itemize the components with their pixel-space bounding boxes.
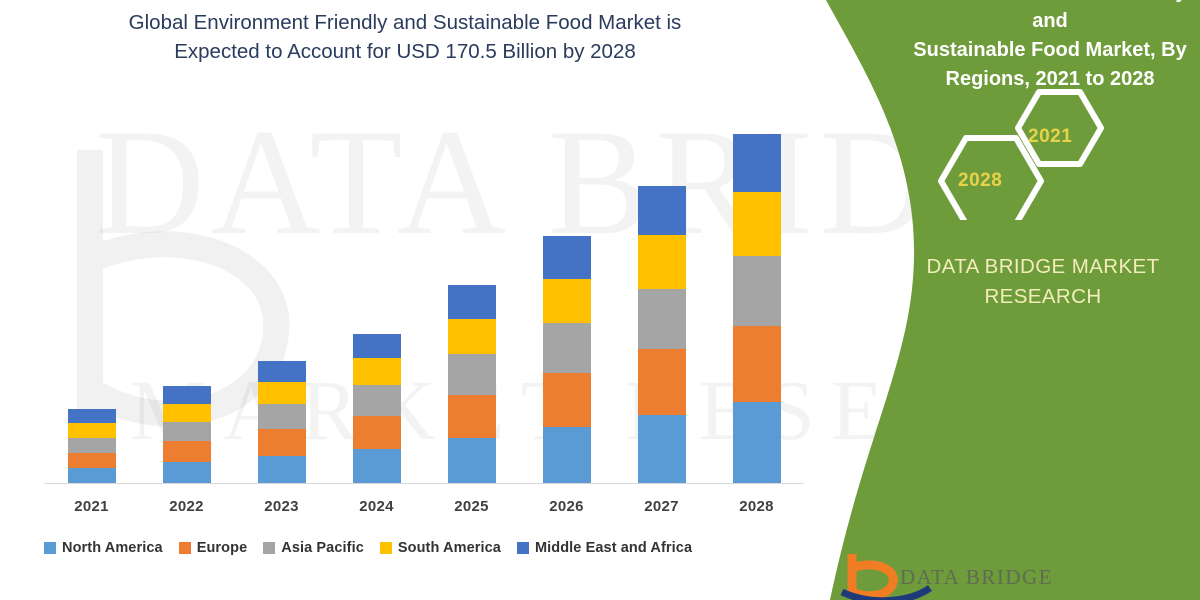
bar-column[interactable] — [543, 236, 591, 483]
bar-segment[interactable] — [68, 423, 116, 438]
legend-label: South America — [398, 540, 501, 556]
legend-swatch — [263, 542, 275, 554]
bar-segment[interactable] — [163, 441, 211, 462]
chart-baseline — [44, 483, 804, 484]
x-axis-label: 2028 — [712, 498, 802, 515]
bar-segment[interactable] — [733, 256, 781, 326]
bar-segment[interactable] — [163, 462, 211, 483]
bar-segment[interactable] — [733, 134, 781, 192]
legend-item[interactable]: Europe — [179, 540, 248, 556]
bar-segment[interactable] — [733, 402, 781, 483]
bar-segment[interactable] — [543, 373, 591, 427]
bar-segment[interactable] — [353, 449, 401, 483]
bar-segment[interactable] — [448, 285, 496, 319]
bar-segment[interactable] — [258, 456, 306, 483]
panel-heading: Global Environment Friendly and Sustaina… — [905, 0, 1195, 94]
bar-segment[interactable] — [448, 395, 496, 439]
bar-segment[interactable] — [638, 235, 686, 289]
bar-segment[interactable] — [543, 323, 591, 373]
bar-segment[interactable] — [638, 186, 686, 235]
bar-segment[interactable] — [448, 438, 496, 483]
bar-segment[interactable] — [543, 427, 591, 483]
hexagon-2028-label: 2028 — [958, 170, 1002, 192]
legend-swatch — [517, 542, 529, 554]
x-axis-label: 2026 — [522, 498, 612, 515]
bar-column[interactable] — [733, 134, 781, 483]
x-axis-label: 2022 — [142, 498, 232, 515]
bar-segment[interactable] — [448, 319, 496, 354]
legend-swatch — [179, 542, 191, 554]
bar-segment[interactable] — [68, 438, 116, 453]
bar-segment[interactable] — [258, 361, 306, 382]
x-axis-label: 2021 — [47, 498, 137, 515]
bar-column[interactable] — [68, 409, 116, 483]
legend-label: Asia Pacific — [281, 540, 364, 556]
legend-item[interactable]: Middle East and Africa — [517, 540, 692, 556]
bar-segment[interactable] — [448, 354, 496, 395]
bar-column[interactable] — [448, 285, 496, 483]
bar-segment[interactable] — [68, 409, 116, 423]
brand-line-2: RESEARCH — [893, 282, 1193, 312]
bar-segment[interactable] — [68, 468, 116, 483]
bar-segment[interactable] — [638, 349, 686, 414]
bar-segment[interactable] — [353, 385, 401, 416]
bar-segment[interactable] — [543, 236, 591, 279]
chart-bars — [44, 100, 804, 483]
panel-heading-line-clipped: Global Environment Friendly and — [905, 0, 1195, 36]
x-axis-label: 2027 — [617, 498, 707, 515]
bar-segment[interactable] — [258, 404, 306, 429]
legend-label: Europe — [197, 540, 248, 556]
legend-label: Middle East and Africa — [535, 540, 692, 556]
bar-segment[interactable] — [163, 404, 211, 422]
x-axis-label: 2024 — [332, 498, 422, 515]
chart-x-axis-labels: 20212022202320242025202620272028 — [44, 498, 804, 524]
stacked-bar-chart: 20212022202320242025202620272028 — [0, 0, 830, 600]
panel-heading-line-1: Sustainable Food Market, By — [905, 36, 1195, 65]
chart-legend: North AmericaEuropeAsia PacificSouth Ame… — [44, 540, 692, 556]
brand-line-1: DATA BRIDGE MARKET — [893, 252, 1193, 282]
legend-swatch — [44, 542, 56, 554]
legend-label: North America — [62, 540, 163, 556]
bar-segment[interactable] — [68, 453, 116, 468]
bar-segment[interactable] — [638, 415, 686, 483]
bar-column[interactable] — [163, 386, 211, 483]
bar-segment[interactable] — [353, 416, 401, 449]
bar-segment[interactable] — [353, 358, 401, 385]
brand-name: DATA BRIDGE MARKET RESEARCH — [893, 252, 1193, 311]
bar-segment[interactable] — [353, 334, 401, 358]
x-axis-label: 2025 — [427, 498, 517, 515]
legend-item[interactable]: North America — [44, 540, 163, 556]
bar-segment[interactable] — [543, 279, 591, 323]
legend-swatch — [380, 542, 392, 554]
bar-column[interactable] — [258, 361, 306, 483]
bar-segment[interactable] — [733, 326, 781, 402]
bar-segment[interactable] — [163, 386, 211, 404]
infographic-canvas: DATA BRIDGE MARKET RESEARCH Global Envir… — [0, 0, 1200, 600]
bar-segment[interactable] — [163, 422, 211, 441]
x-axis-label: 2023 — [237, 498, 327, 515]
databridge-logo-text: DATA BRIDGE — [900, 565, 1053, 590]
legend-item[interactable]: South America — [380, 540, 501, 556]
bar-column[interactable] — [638, 186, 686, 483]
bar-segment[interactable] — [638, 289, 686, 349]
hexagon-badges — [920, 88, 1120, 220]
bar-column[interactable] — [353, 334, 401, 483]
hexagon-2021-label: 2021 — [1028, 126, 1072, 148]
bar-segment[interactable] — [258, 429, 306, 456]
bar-segment[interactable] — [258, 382, 306, 404]
bar-segment[interactable] — [733, 192, 781, 256]
legend-item[interactable]: Asia Pacific — [263, 540, 364, 556]
